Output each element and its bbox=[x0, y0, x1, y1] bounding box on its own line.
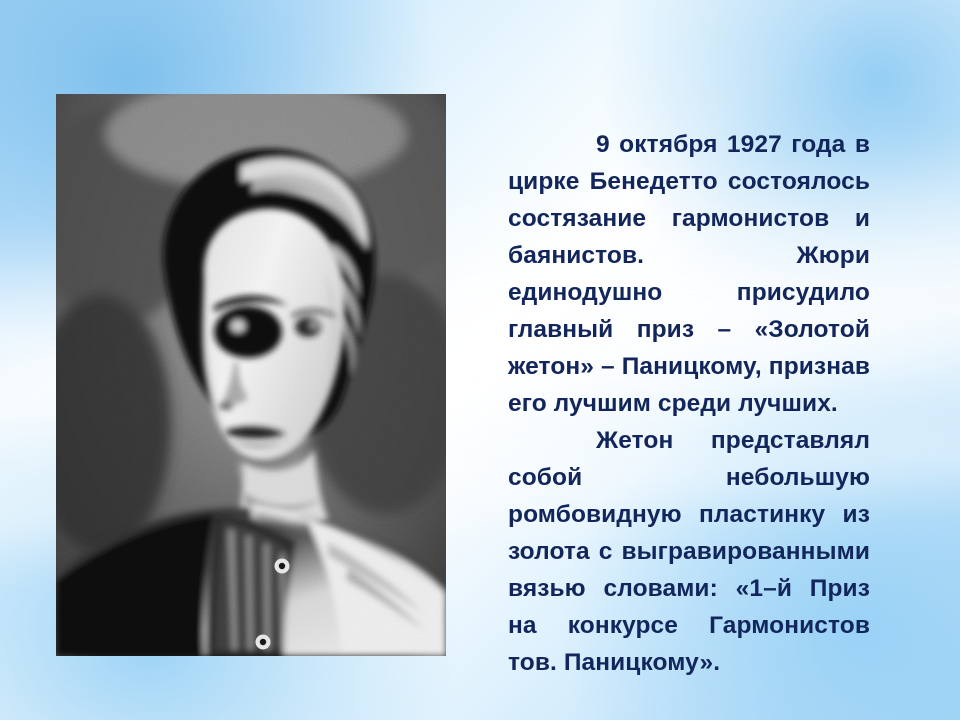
paragraph-1: 9 октября 1927 года в цирке Бенедетто со… bbox=[508, 126, 870, 422]
paragraph-2: Жетон представлял собой небольшую ромбов… bbox=[508, 422, 870, 681]
portrait-photo bbox=[56, 94, 446, 656]
portrait-photo-image bbox=[56, 94, 446, 656]
slide-text-column: 9 октября 1927 года в цирке Бенедетто со… bbox=[508, 126, 870, 681]
presentation-slide: 9 октября 1927 года в цирке Бенедетто со… bbox=[0, 0, 960, 720]
